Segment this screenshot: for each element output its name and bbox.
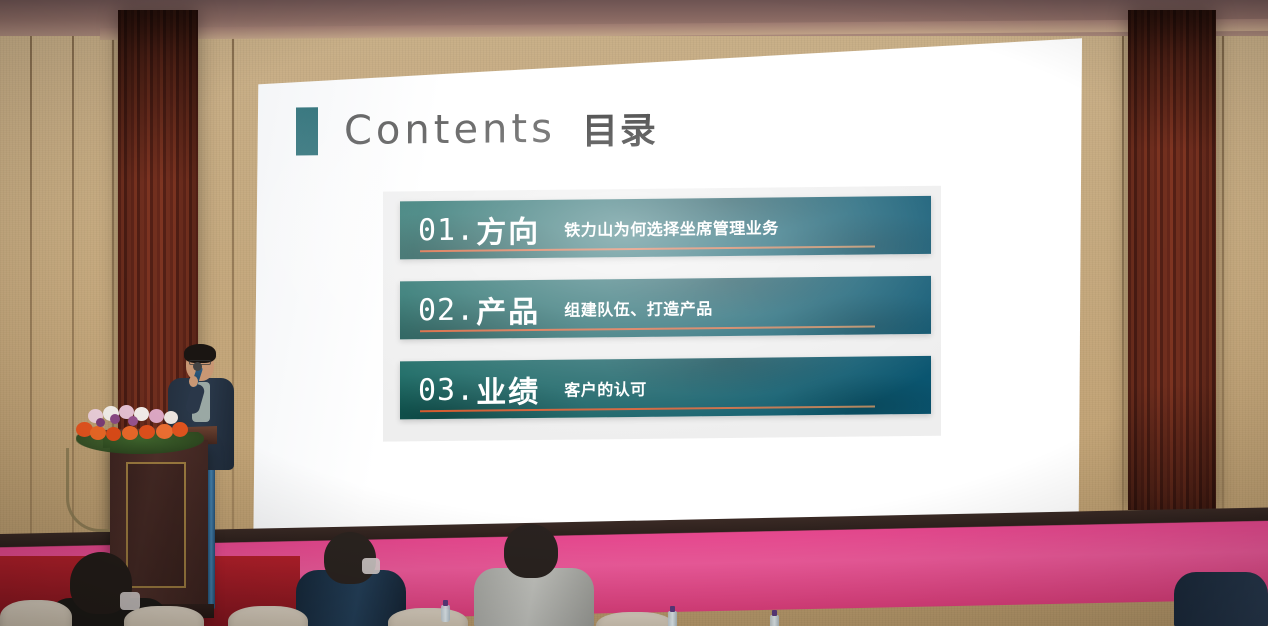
row-subtitle: 组建队伍、打造产品 bbox=[564, 295, 713, 321]
face-mask bbox=[362, 558, 380, 574]
audience-member bbox=[474, 524, 594, 626]
audience-member bbox=[296, 530, 406, 626]
accent-bar-icon bbox=[296, 107, 318, 155]
presenter-hand bbox=[189, 376, 198, 387]
slide-header: Contents 目录 bbox=[296, 102, 658, 158]
row-number: 01. bbox=[418, 212, 475, 248]
water-bottle bbox=[668, 606, 677, 626]
row-subtitle: 铁力山为何选择坐席管理业务 bbox=[564, 214, 779, 240]
audience-head bbox=[504, 524, 558, 578]
screen-surface: Contents 目录 01. 方向 铁力山为何选择坐席管理业务 02. 产品 … bbox=[250, 28, 1082, 540]
slide-title-chinese: 目录 bbox=[582, 102, 658, 155]
face-mask bbox=[120, 592, 140, 610]
row-keyword: 产品 bbox=[476, 287, 540, 332]
row-keyword: 业绩 bbox=[476, 367, 540, 412]
water-bottle bbox=[770, 610, 779, 626]
chair bbox=[228, 606, 308, 626]
content-row-2: 02. 产品 组建队伍、打造产品 bbox=[400, 276, 931, 340]
chair bbox=[0, 600, 72, 626]
audience-torso bbox=[1174, 572, 1268, 626]
water-bottle bbox=[441, 600, 450, 622]
row-keyword: 方向 bbox=[476, 207, 540, 252]
content-row-3: 03. 业绩 客户的认可 bbox=[400, 356, 931, 420]
cable bbox=[66, 448, 110, 532]
chair bbox=[124, 606, 204, 626]
conference-hall-photo: Contents 目录 01. 方向 铁力山为何选择坐席管理业务 02. 产品 … bbox=[0, 0, 1268, 626]
curtain-right bbox=[1128, 10, 1216, 510]
flower-arrangement bbox=[72, 396, 197, 448]
wall-seam bbox=[1222, 18, 1224, 538]
microphone-head bbox=[193, 362, 202, 371]
content-row-1: 01. 方向 铁力山为何选择坐席管理业务 bbox=[400, 196, 931, 260]
slide-title-english: Contents bbox=[344, 106, 556, 154]
presentation-slide: Contents 目录 01. 方向 铁力山为何选择坐席管理业务 02. 产品 … bbox=[250, 27, 1082, 548]
audience-member bbox=[1174, 566, 1268, 626]
row-number: 03. bbox=[418, 372, 475, 408]
wall-seam bbox=[1122, 18, 1124, 558]
chair bbox=[388, 608, 468, 626]
row-subtitle: 客户的认可 bbox=[564, 376, 647, 401]
projection-screen: Contents 目录 01. 方向 铁力山为何选择坐席管理业务 02. 产品 … bbox=[250, 28, 1082, 540]
curtain-shading bbox=[1128, 10, 1216, 510]
row-number: 02. bbox=[418, 292, 475, 328]
